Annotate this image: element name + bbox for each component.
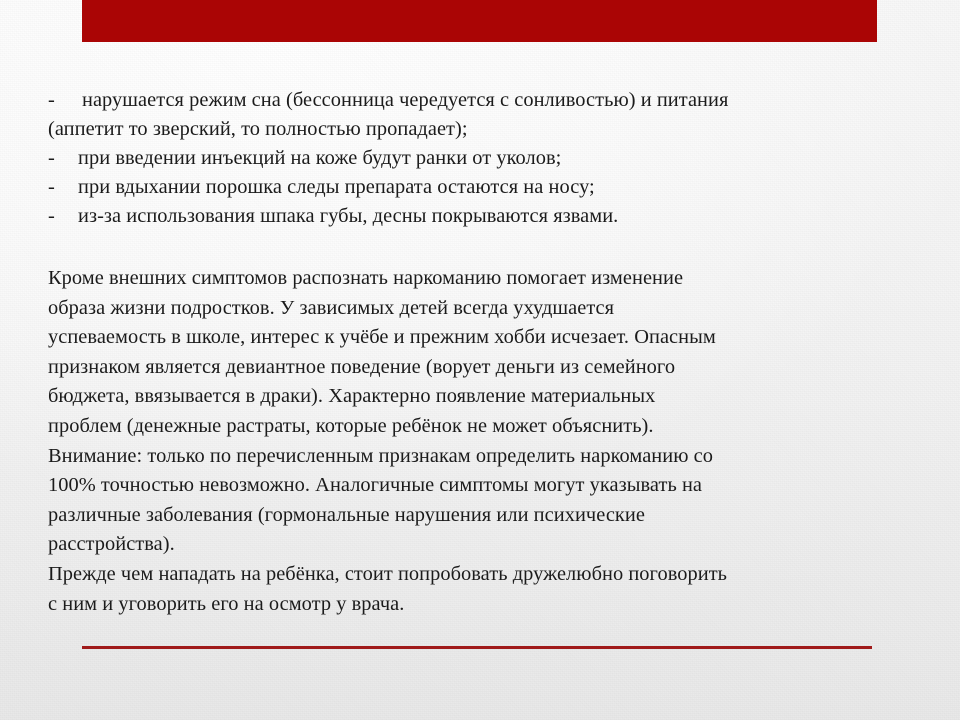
list-item-text-cont: (аппетит то зверский, то полностью пропа… [48,115,924,144]
body-paragraph: Кроме внешних симптомов распознать нарко… [48,264,924,619]
paragraph-line: Внимание: только по перечисленным призна… [48,442,924,472]
symptom-bullet-list: -нарушается режим сна (бессонница череду… [48,86,924,231]
paragraph-line: бюджета, ввязывается в драки). Характерн… [48,382,924,412]
paragraph-line: расстройства). [48,530,924,560]
slide-canvas: -нарушается режим сна (бессонница череду… [0,0,960,720]
bullet-dash-icon: - [48,202,78,231]
list-item: -нарушается режим сна (бессонница череду… [48,86,924,144]
list-item: -при вдыхании порошка следы препарата ос… [48,173,924,202]
paragraph-line: Прежде чем нападать на ребёнка, стоит по… [48,560,924,590]
list-item: -при введении инъекций на коже будут ран… [48,144,924,173]
list-item-text: при введении инъекций на коже будут ранк… [78,147,561,169]
paragraph-line: успеваемость в школе, интерес к учёбе и … [48,323,924,353]
bottom-divider [82,646,872,649]
list-item-text: нарушается режим сна (бессонница чередуе… [82,89,728,111]
top-accent-banner [82,0,877,42]
paragraph-line: образа жизни подростков. У зависимых дет… [48,294,924,324]
paragraph-line: с ним и уговорить его на осмотр у врача. [48,590,924,620]
list-item: -из-за использования шпака губы, десны п… [48,202,924,231]
paragraph-line: различные заболевания (гормональные нару… [48,501,924,531]
paragraph-line: Кроме внешних симптомов распознать нарко… [48,264,924,294]
slide-body: -нарушается режим сна (бессонница череду… [48,86,924,619]
paragraph-line: 100% точностью невозможно. Аналогичные с… [48,471,924,501]
paragraph-line: проблем (денежные растраты, которые ребё… [48,412,924,442]
paragraph-line: признаком является девиантное поведение … [48,353,924,383]
bullet-dash-icon: - [48,173,78,202]
bullet-dash-icon: - [48,144,78,173]
bullet-dash-icon: - [48,86,82,115]
list-item-text: при вдыхании порошка следы препарата ост… [78,176,595,198]
list-item-text: из-за использования шпака губы, десны по… [78,205,618,227]
